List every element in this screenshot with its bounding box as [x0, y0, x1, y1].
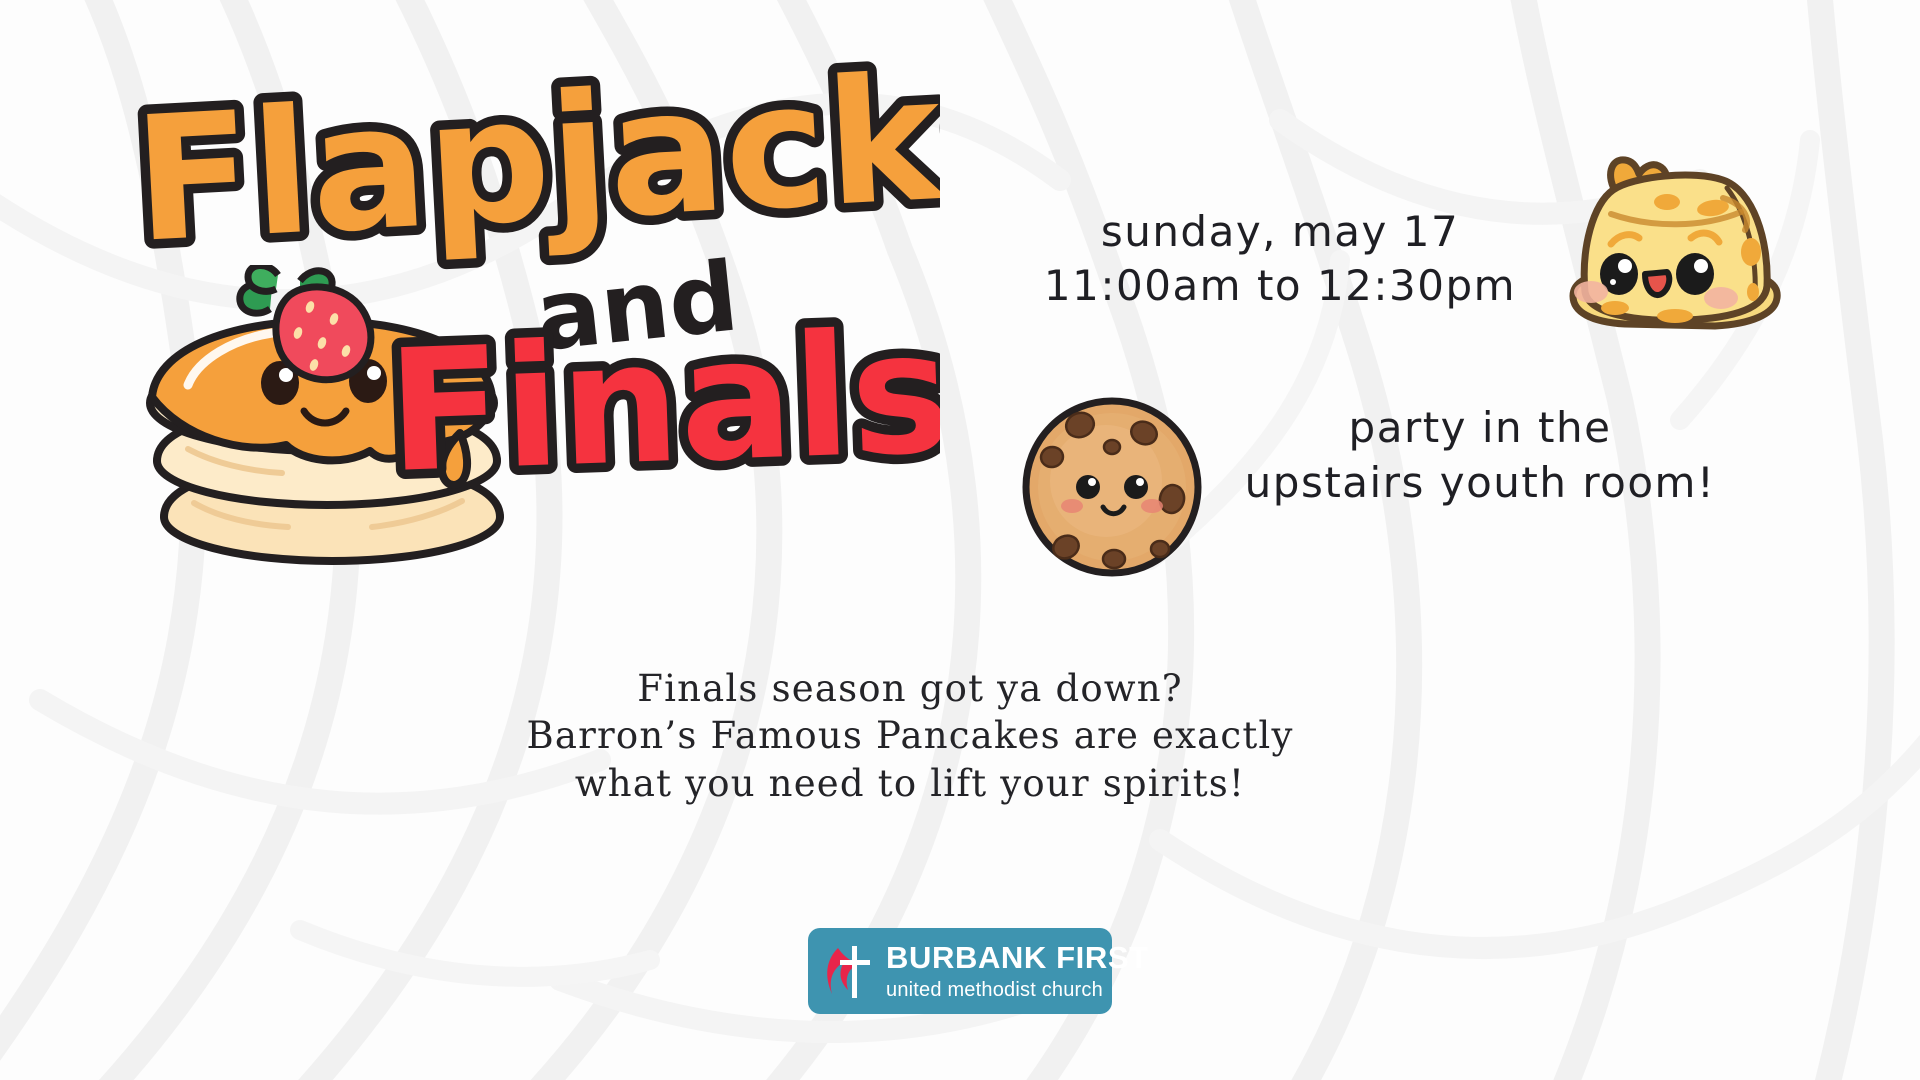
title-lockup: .bub { font-family: "DejaVu Sans", sans-…	[120, 50, 940, 570]
event-description-block: Finals season got ya down? Barron’s Famo…	[470, 665, 1350, 807]
description-line-3: what you need to lift your spirits!	[470, 760, 1350, 807]
description-line-2: Barron’s Famous Pancakes are exactly	[470, 712, 1350, 759]
event-where-block: party in the upstairs youth room!	[1220, 400, 1740, 511]
title-word-flapjacks: Flapjacks Flapjacks	[130, 50, 940, 281]
title-artwork: .bub { font-family: "DejaVu Sans", sans-…	[120, 50, 940, 570]
cross-and-flame-icon	[822, 940, 880, 1002]
logo-church-tagline: united methodist church	[886, 980, 1149, 1000]
title-word-finals: Finals Finals	[385, 294, 940, 510]
event-location-line-1: party in the	[1220, 400, 1740, 455]
description-line-1: Finals season got ya down?	[470, 665, 1350, 712]
church-logo-badge: BURBANK FIRST united methodist church	[808, 928, 1112, 1014]
event-location-line-2: upstairs youth room!	[1220, 455, 1740, 510]
event-date: sunday, may 17	[1030, 205, 1530, 259]
finals-fill: Finals	[385, 294, 940, 510]
butter-block-illustration	[1555, 132, 1795, 347]
logo-wordmark: BURBANK FIRST united methodist church	[886, 942, 1149, 1000]
event-when-block: sunday, may 17 11:00am to 12:30pm	[1030, 205, 1530, 313]
flapjacks-fill: Flapjacks	[130, 50, 940, 281]
logo-church-name: BURBANK FIRST	[886, 942, 1149, 973]
event-time: 11:00am to 12:30pm	[1030, 259, 1530, 313]
poster-canvas: .bub { font-family: "DejaVu Sans", sans-…	[0, 0, 1920, 1080]
chocolate-chip-cookie-illustration	[1020, 395, 1205, 580]
